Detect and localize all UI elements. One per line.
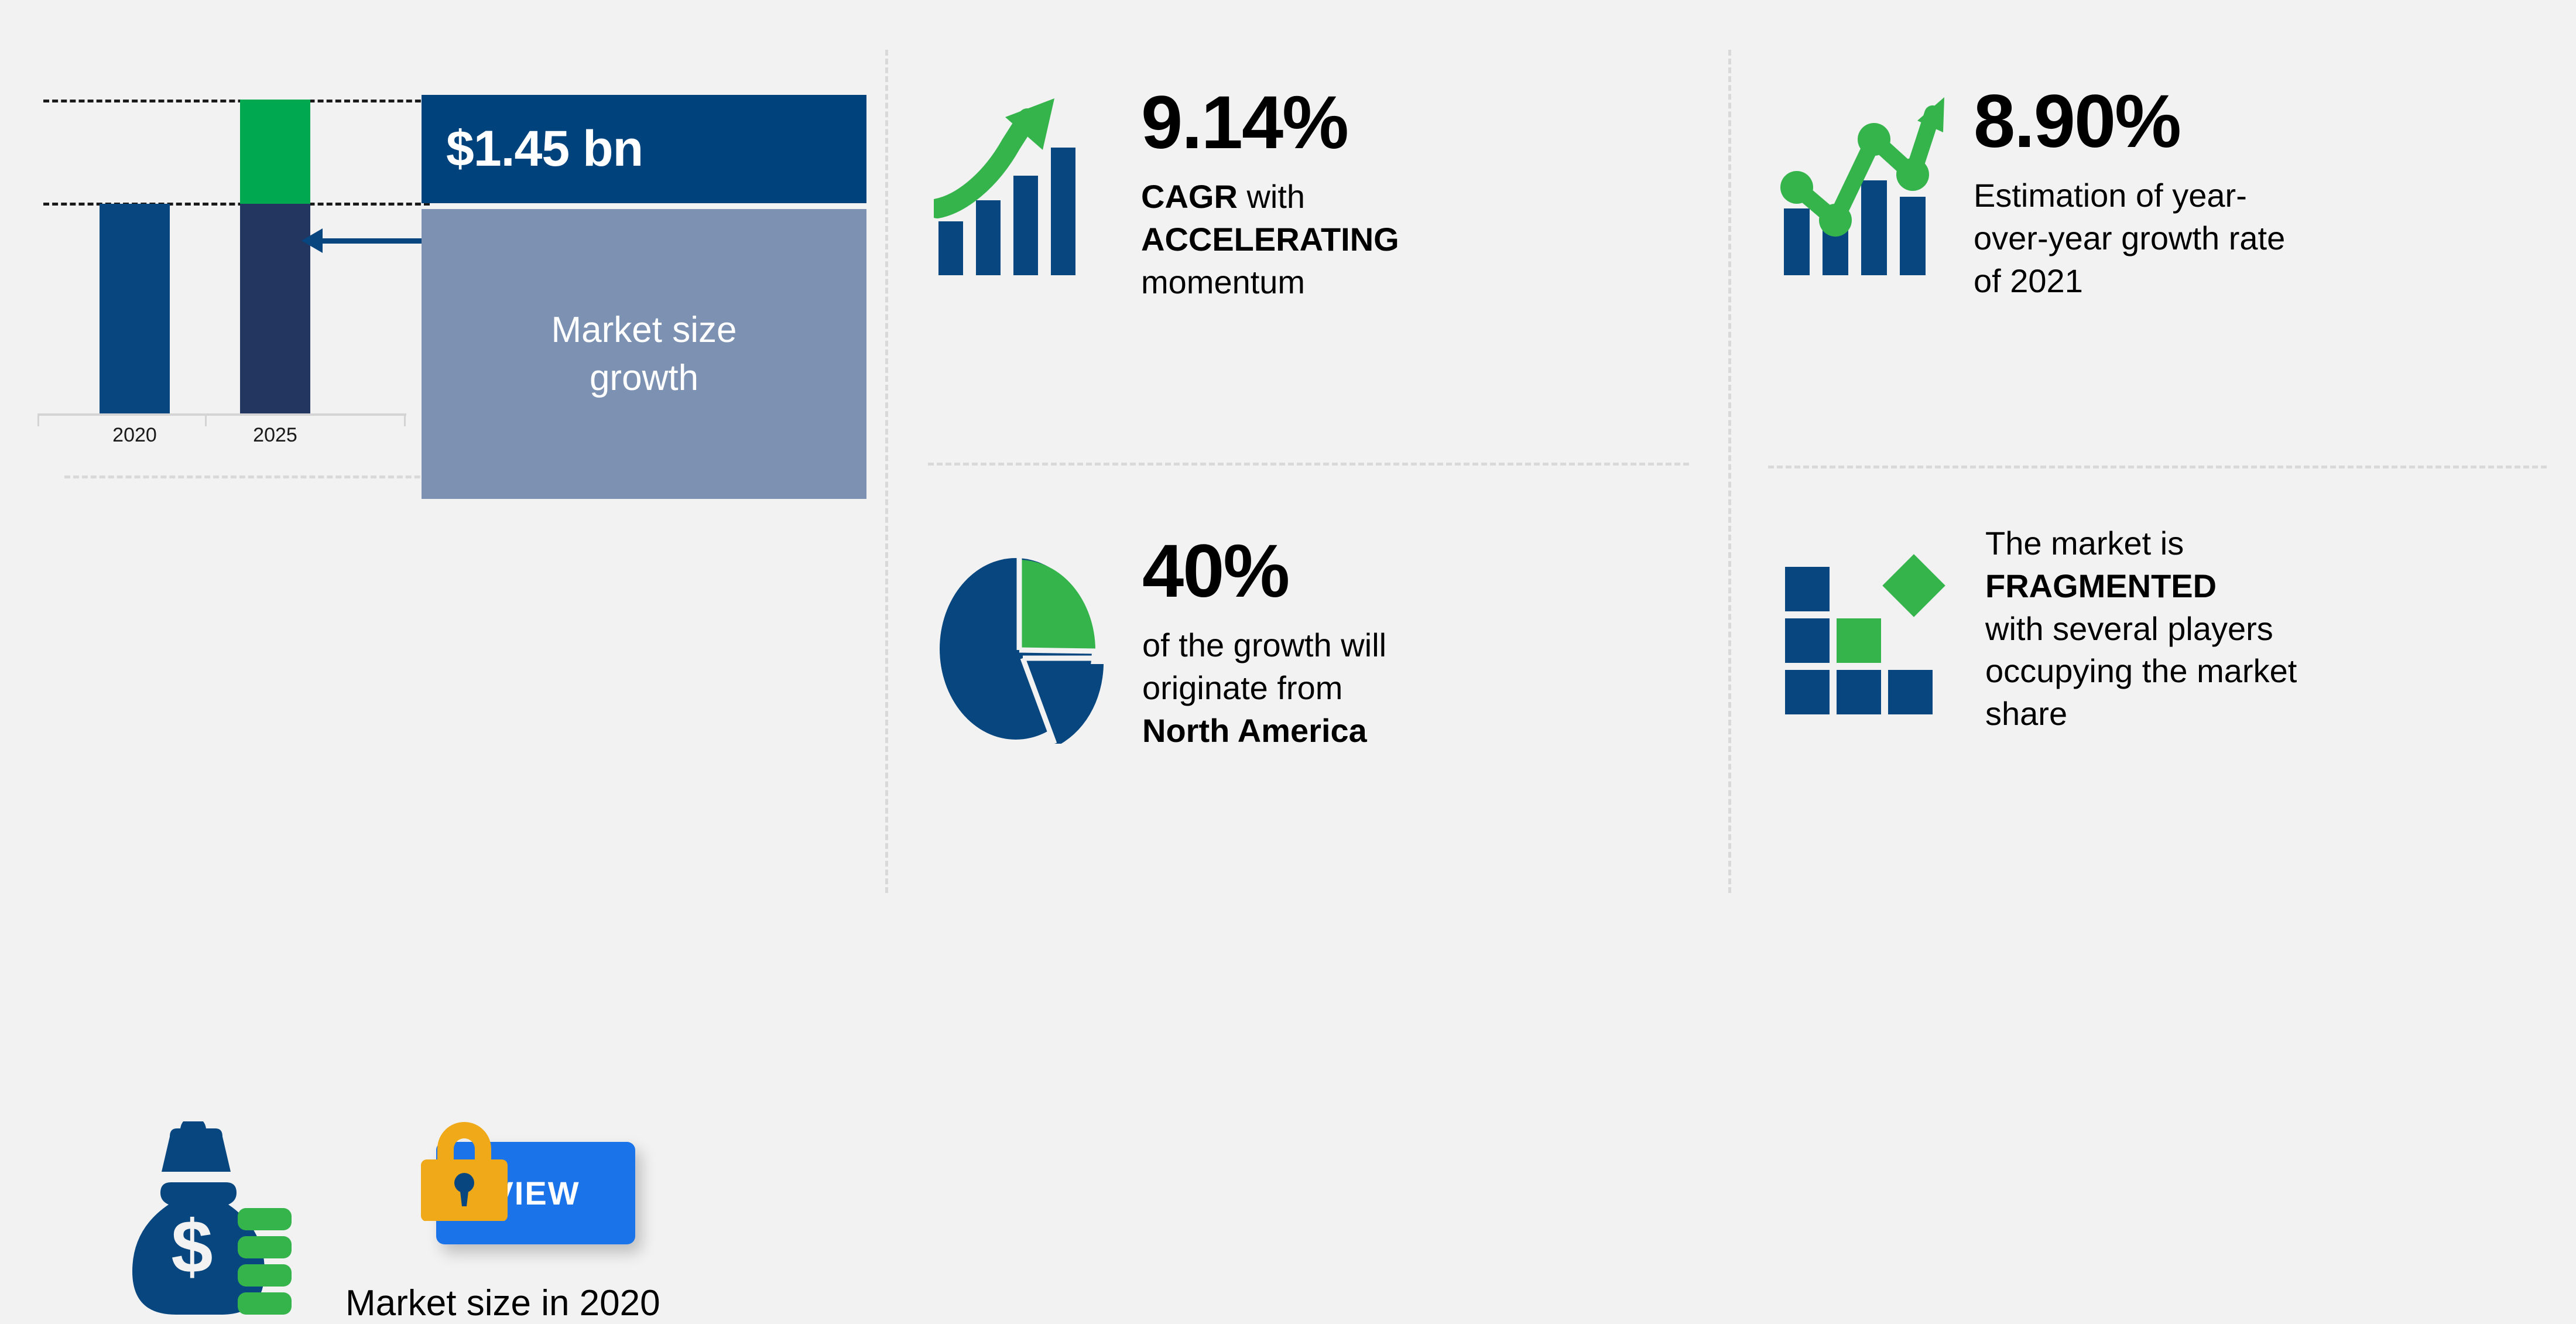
axis-tick-mid — [205, 413, 207, 426]
yoy-line3: of 2021 — [1974, 262, 2083, 299]
vertical-divider-left — [885, 50, 888, 893]
frag-keyword: FRAGMENTED — [1985, 567, 2217, 604]
north-america-description: of the growth will originate from North … — [1142, 624, 1386, 752]
left-arrow-icon — [302, 228, 323, 253]
pie-chart-icon — [934, 550, 1109, 747]
x-tick-label-2025: 2025 — [225, 424, 325, 447]
money-bag-icon: $ — [117, 1121, 293, 1320]
yoy-description: Estimation of year- over-year growth rat… — [1974, 175, 2285, 302]
vertical-divider-right — [1728, 50, 1731, 893]
yoy-line1: Estimation of year- — [1974, 177, 2247, 214]
cagr-text-block: 9.14% CAGR with ACCELERATING momentum — [1141, 85, 1399, 303]
market-size-growth-chart: 2020 2025 $1.45 bn Market size growth — [35, 82, 855, 445]
frag-line5: share — [1985, 695, 2067, 732]
axis-tick-end — [404, 413, 406, 426]
bar-2020 — [100, 204, 170, 413]
horizontal-divider-column2 — [928, 463, 1689, 466]
callout-body: Market size growth — [422, 209, 866, 499]
x-axis-line — [37, 413, 406, 416]
cagr-value: 9.14% — [1141, 85, 1399, 160]
cagr-momentum: momentum — [1141, 264, 1305, 300]
x-tick-label-2020: 2020 — [85, 424, 184, 447]
fragmentation-description: The market is FRAGMENTED with several pl… — [1985, 522, 2297, 735]
yoy-text-block: 8.90% Estimation of year- over-year grow… — [1974, 84, 2285, 302]
gridline-2025 — [43, 100, 430, 102]
frag-line1: The market is — [1985, 525, 2184, 562]
lock-icon — [413, 1113, 515, 1221]
callout-value: $1.45 bn — [446, 120, 643, 178]
fragmented-squares-icon — [1777, 545, 1952, 741]
callout-caption-line1: Market size — [551, 306, 737, 354]
market-size-2020-caption: Market size in 2020 — [345, 1282, 872, 1324]
bar-2025-incremental — [240, 100, 310, 204]
callout-header: $1.45 bn — [422, 95, 866, 203]
growth-bar-arrow-icon — [934, 94, 1109, 290]
market-size-callout: $1.45 bn Market size growth — [422, 95, 866, 499]
cagr-stat-block: 9.14% CAGR with ACCELERATING momentum — [934, 94, 1399, 303]
cagr-line1-rest: with — [1238, 178, 1305, 215]
cagr-accelerating: ACCELERATING — [1141, 221, 1399, 258]
frag-line4: occupying the market — [1985, 652, 2297, 689]
na-line1: of the growth will — [1142, 627, 1386, 663]
north-america-value: 40% — [1142, 534, 1386, 609]
north-america-text-block: 40% of the growth will originate from No… — [1142, 534, 1386, 752]
fragmentation-text-block: The market is FRAGMENTED with several pl… — [1985, 522, 2297, 735]
line-bar-combo-icon — [1777, 94, 1947, 290]
na-line2: originate from — [1142, 669, 1342, 706]
yoy-value: 8.90% — [1974, 84, 2285, 159]
frag-line3: with several players — [1985, 610, 2273, 647]
bar-2025-base — [240, 204, 310, 413]
callout-arrow-line — [318, 238, 430, 244]
fragmentation-stat-block: The market is FRAGMENTED with several pl… — [1777, 545, 2297, 741]
north-america-stat-block: 40% of the growth will originate from No… — [934, 550, 1386, 752]
infographic-canvas: 2020 2025 $1.45 bn Market size growth — [0, 0, 2576, 970]
svg-text:$: $ — [171, 1205, 213, 1289]
cagr-description: CAGR with ACCELERATING momentum — [1141, 176, 1399, 303]
callout-caption-line2: growth — [590, 354, 698, 402]
cagr-label: CAGR — [1141, 178, 1238, 215]
na-region: North America — [1142, 712, 1367, 749]
yoy-stat-block: 8.90% Estimation of year- over-year grow… — [1777, 94, 2285, 302]
yoy-line2: over-year growth rate — [1974, 220, 2285, 256]
horizontal-divider-column3 — [1768, 466, 2547, 468]
market-size-2020-block: $ VIEW Market size in 2020 — [53, 550, 837, 878]
axis-tick-start — [37, 413, 39, 426]
